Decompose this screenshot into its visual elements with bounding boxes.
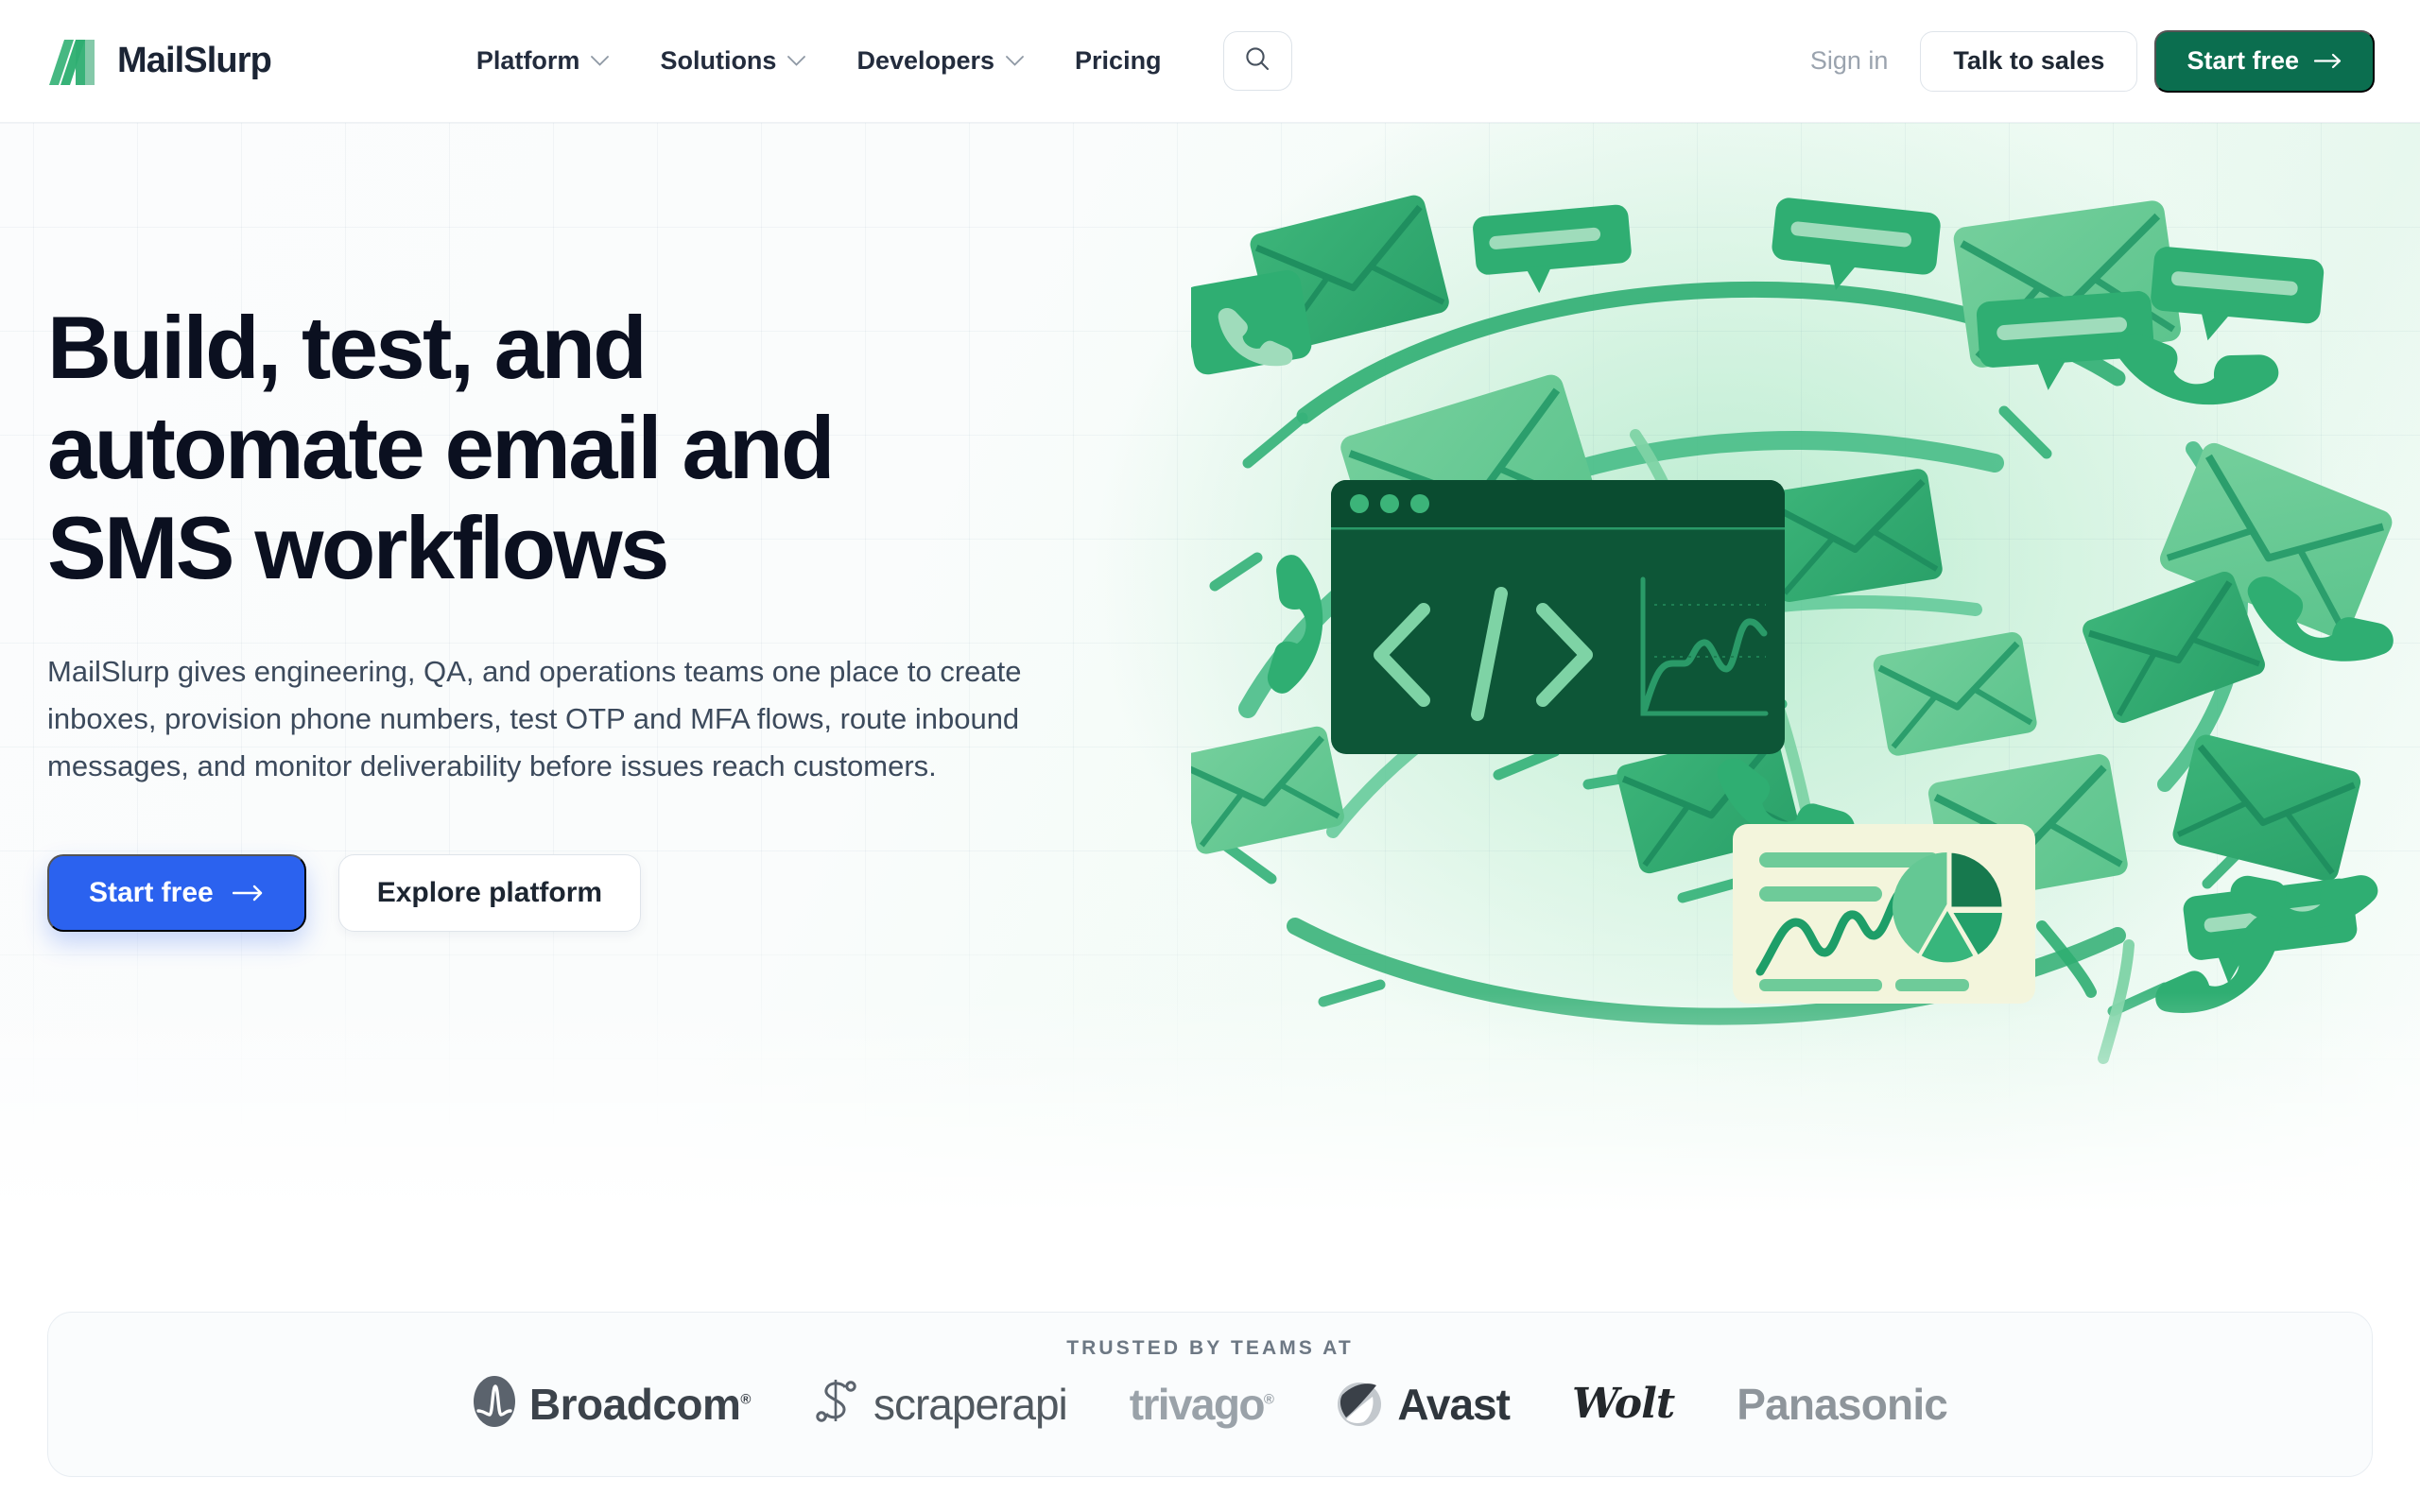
avast-logo-icon [1335, 1376, 1384, 1432]
logo-label: Panasonic [1737, 1379, 1947, 1430]
brand-logo-link[interactable]: MailSlurp [47, 37, 271, 86]
scraperapi-logo-icon [813, 1376, 860, 1432]
logo-avast: Avast [1335, 1376, 1510, 1432]
trusted-by-label: TRUSTED BY TEAMS AT [1066, 1337, 1354, 1360]
nav-item-developers[interactable]: Developers [831, 37, 1049, 85]
logo-trivago: trivago® [1130, 1379, 1273, 1430]
arrow-right-icon [2314, 46, 2342, 76]
code-window [1331, 480, 1785, 754]
logo-label: trivago® [1130, 1379, 1273, 1430]
logo-label: Broadcom® [529, 1379, 751, 1430]
start-free-label: Start free [89, 877, 214, 909]
page-root: MailSlurp Platform Solutions Developers [0, 0, 2420, 1512]
arrow-right-icon [233, 877, 265, 909]
headline-line-3: SMS workflows [47, 498, 667, 597]
logo-broadcom: Broadcom® [473, 1375, 751, 1433]
trusted-logo-list: Broadcom® scraperapi trivago® [48, 1375, 2372, 1433]
headline-line-1: Build, test, and [47, 298, 645, 397]
header-actions: Sign in Talk to sales Start free [1778, 30, 2375, 93]
chevron-down-icon [1006, 56, 1024, 66]
talk-to-sales-button[interactable]: Talk to sales [1920, 31, 2137, 92]
trusted-by-section: TRUSTED BY TEAMS AT Broadcom® [47, 1312, 2373, 1477]
mailslurp-m-logo-icon [47, 37, 102, 86]
logo-label: Wolt [1572, 1380, 1674, 1428]
nav-item-solutions[interactable]: Solutions [634, 37, 831, 85]
explore-platform-button[interactable]: Explore platform [338, 854, 641, 932]
sign-in-link[interactable]: Sign in [1778, 46, 1921, 76]
nav-item-label: Solutions [660, 46, 776, 76]
primary-nav: Platform Solutions Developers Pricing [451, 31, 1292, 91]
start-free-label: Start free [2187, 46, 2299, 76]
hero-subcopy: MailSlurp gives engineering, QA, and ope… [47, 648, 1097, 791]
logo-panasonic: Panasonic [1737, 1379, 1947, 1430]
hero-section: Build, test, and automate email and SMS … [0, 123, 2420, 1276]
chevron-down-icon [591, 56, 609, 66]
logo-label: Avast [1397, 1379, 1510, 1430]
hero-bottom-fade [0, 992, 2420, 1276]
nav-item-pricing[interactable]: Pricing [1049, 37, 1187, 85]
logo-wolt: Wolt [1572, 1380, 1674, 1428]
logo-scraperapi: scraperapi [813, 1376, 1067, 1432]
nav-item-platform[interactable]: Platform [451, 37, 635, 85]
search-button[interactable] [1223, 31, 1292, 91]
nav-item-label: Pricing [1075, 46, 1162, 76]
search-icon [1243, 44, 1271, 77]
start-free-button-nav[interactable]: Start free [2154, 30, 2375, 93]
hero-copy: Build, test, and automate email and SMS … [47, 298, 1163, 932]
chevron-down-icon [787, 56, 805, 66]
nav-item-label: Developers [856, 46, 994, 76]
site-header: MailSlurp Platform Solutions Developers [0, 0, 2420, 123]
headline-line-2: automate email and [47, 398, 833, 497]
hero-cta-row: Start free Explore platform [47, 854, 1163, 932]
broadcom-logo-icon [473, 1375, 516, 1433]
logo-label: scraperapi [873, 1379, 1067, 1430]
start-free-button-hero[interactable]: Start free [47, 854, 306, 932]
brand-name: MailSlurp [117, 41, 271, 81]
page-title: Build, test, and automate email and SMS … [47, 298, 1163, 599]
nav-item-label: Platform [476, 46, 580, 76]
analytics-card [1733, 824, 2035, 1004]
